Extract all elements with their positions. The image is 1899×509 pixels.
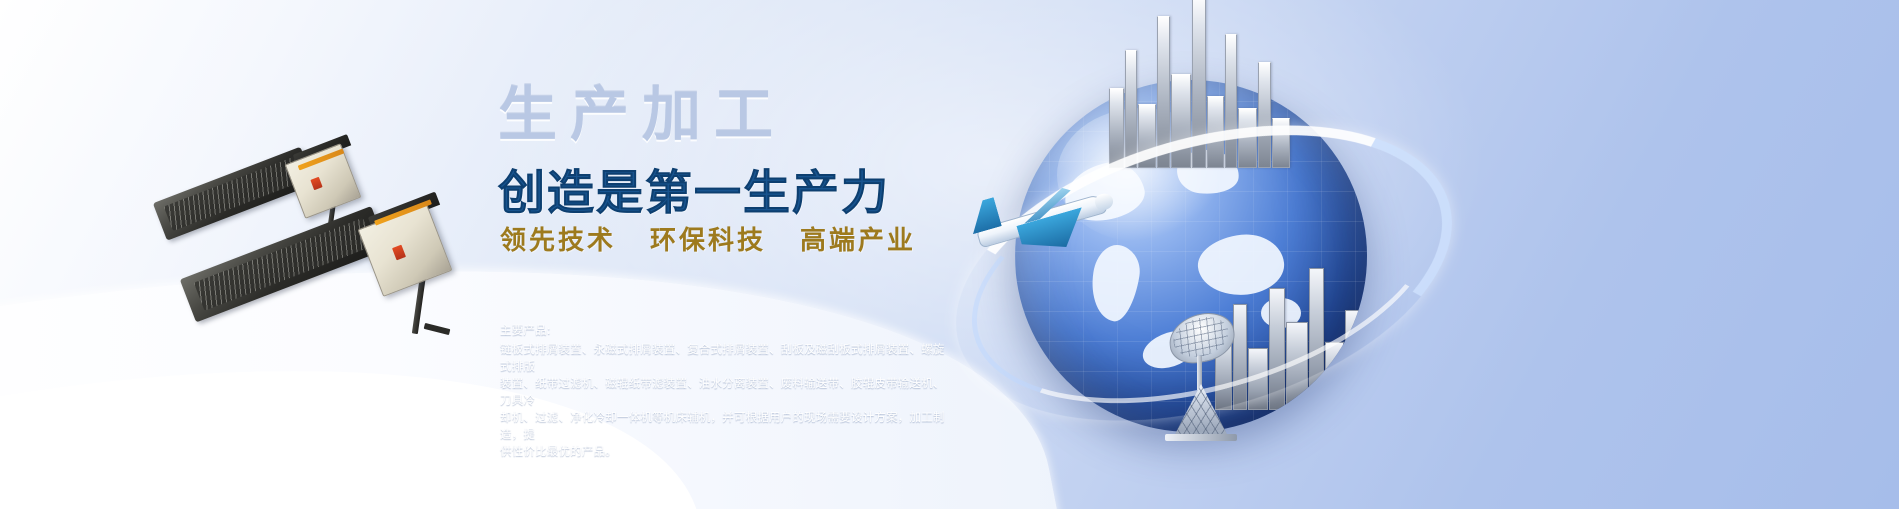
machine-illustration-group: [160, 130, 490, 330]
building: [1109, 88, 1124, 168]
lattice-truss: [1173, 384, 1229, 438]
globe-scene: [929, 0, 1469, 508]
banner-headline: 生产加工: [498, 84, 786, 146]
product-line: 供性价比最优的产品。: [500, 443, 948, 460]
building: [1360, 354, 1367, 410]
banner-title: 创造是第一生产力: [498, 168, 890, 220]
chip-conveyor-machine-b: [188, 208, 458, 378]
satellite-icon: [1125, 314, 1275, 464]
product-line: 装置、纸带过滤机、磁辊纸带滤装置、油水分离装置、废料输送带、胶辊皮带输送机、刀具…: [500, 375, 948, 409]
product-description: 主要产品: 链板式排屑装置、永磁式排屑装置、复合式排屑装置、刮板及磁刮板式排屑装…: [500, 322, 948, 460]
product-heading: 主要产品:: [500, 322, 948, 339]
building: [1125, 50, 1137, 168]
machine-foot: [424, 323, 451, 335]
promo-banner: 生产加工 创造是第一生产力 领先技术环保科技高端产业 主要产品: 链板式排屑装置…: [0, 0, 1899, 509]
product-line: 链板式排屑装置、永磁式排屑装置、复合式排屑装置、刮板及磁刮板式排屑装置、螺旋式排…: [500, 341, 948, 375]
tagline-item-1: 领先技术: [500, 226, 616, 256]
banner-tagline-group: 领先技术环保科技高端产业: [500, 226, 916, 256]
tagline-item-2: 环保科技: [650, 226, 766, 256]
product-line: 却机、过滤、净化冷却一体机等机床辅机，并可根据用户的现场需要设计方案，加工制造，…: [500, 409, 948, 443]
belt-ribs: [194, 218, 373, 310]
tagline-item-3: 高端产业: [800, 226, 916, 256]
tower-base: [1165, 434, 1237, 441]
conveyor-belt: [180, 206, 388, 322]
